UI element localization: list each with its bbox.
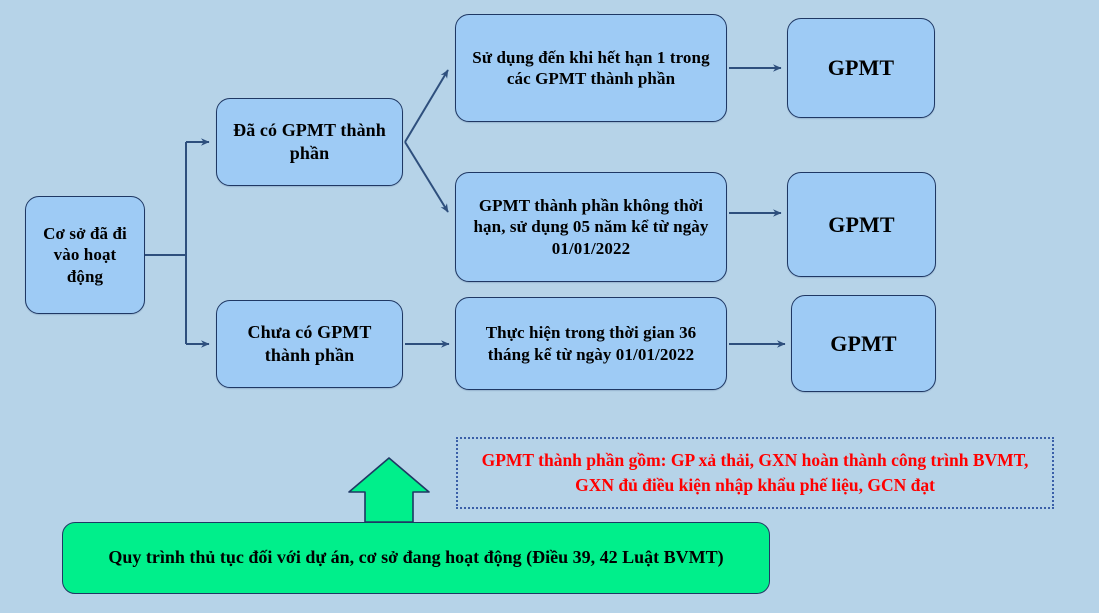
- note-callout-text: GPMT thành phần gồm: GP xả thải, GXN hoà…: [468, 448, 1042, 499]
- node-has-gpmt[interactable]: Đã có GPMT thành phần: [216, 98, 403, 186]
- node-detail-2-label: GPMT thành phần không thời hạn, sử dụng …: [456, 195, 726, 259]
- node-no-gpmt[interactable]: Chưa có GPMT thành phần: [216, 300, 403, 388]
- note-callout: GPMT thành phần gồm: GP xả thải, GXN hoà…: [456, 437, 1054, 509]
- node-has-gpmt-label: Đã có GPMT thành phần: [217, 119, 402, 164]
- process-banner[interactable]: Quy trình thủ tục đối với dự án, cơ sở đ…: [62, 522, 770, 594]
- node-detail-3-label: Thực hiện trong thời gian 36 tháng kể từ…: [456, 322, 726, 365]
- node-no-gpmt-label: Chưa có GPMT thành phần: [217, 321, 402, 366]
- node-start-label: Cơ sở đã đi vào hoạt động: [26, 223, 144, 287]
- connector-detail-to-result: [729, 68, 785, 344]
- node-result-gpmt-2[interactable]: GPMT: [787, 172, 936, 277]
- node-result-gpmt-1-label: GPMT: [820, 54, 902, 82]
- node-detail-3[interactable]: Thực hiện trong thời gian 36 tháng kể từ…: [455, 297, 727, 390]
- connector-start-fork: [145, 142, 209, 344]
- node-start[interactable]: Cơ sở đã đi vào hoạt động: [25, 196, 145, 314]
- node-result-gpmt-3[interactable]: GPMT: [791, 295, 936, 392]
- node-result-gpmt-3-label: GPMT: [822, 330, 904, 358]
- flowchart-canvas: Cơ sở đã đi vào hoạt động Đã có GPMT thà…: [0, 0, 1099, 613]
- node-result-gpmt-2-label: GPMT: [820, 211, 902, 239]
- node-detail-1-label: Sử dụng đến khi hết hạn 1 trong các GPMT…: [456, 47, 726, 90]
- green-up-arrow: [349, 458, 429, 522]
- connector-has-gpmt-split: [405, 70, 448, 212]
- node-detail-1[interactable]: Sử dụng đến khi hết hạn 1 trong các GPMT…: [455, 14, 727, 122]
- node-detail-2[interactable]: GPMT thành phần không thời hạn, sử dụng …: [455, 172, 727, 282]
- process-banner-text: Quy trình thủ tục đối với dự án, cơ sở đ…: [108, 546, 723, 569]
- node-result-gpmt-1[interactable]: GPMT: [787, 18, 935, 118]
